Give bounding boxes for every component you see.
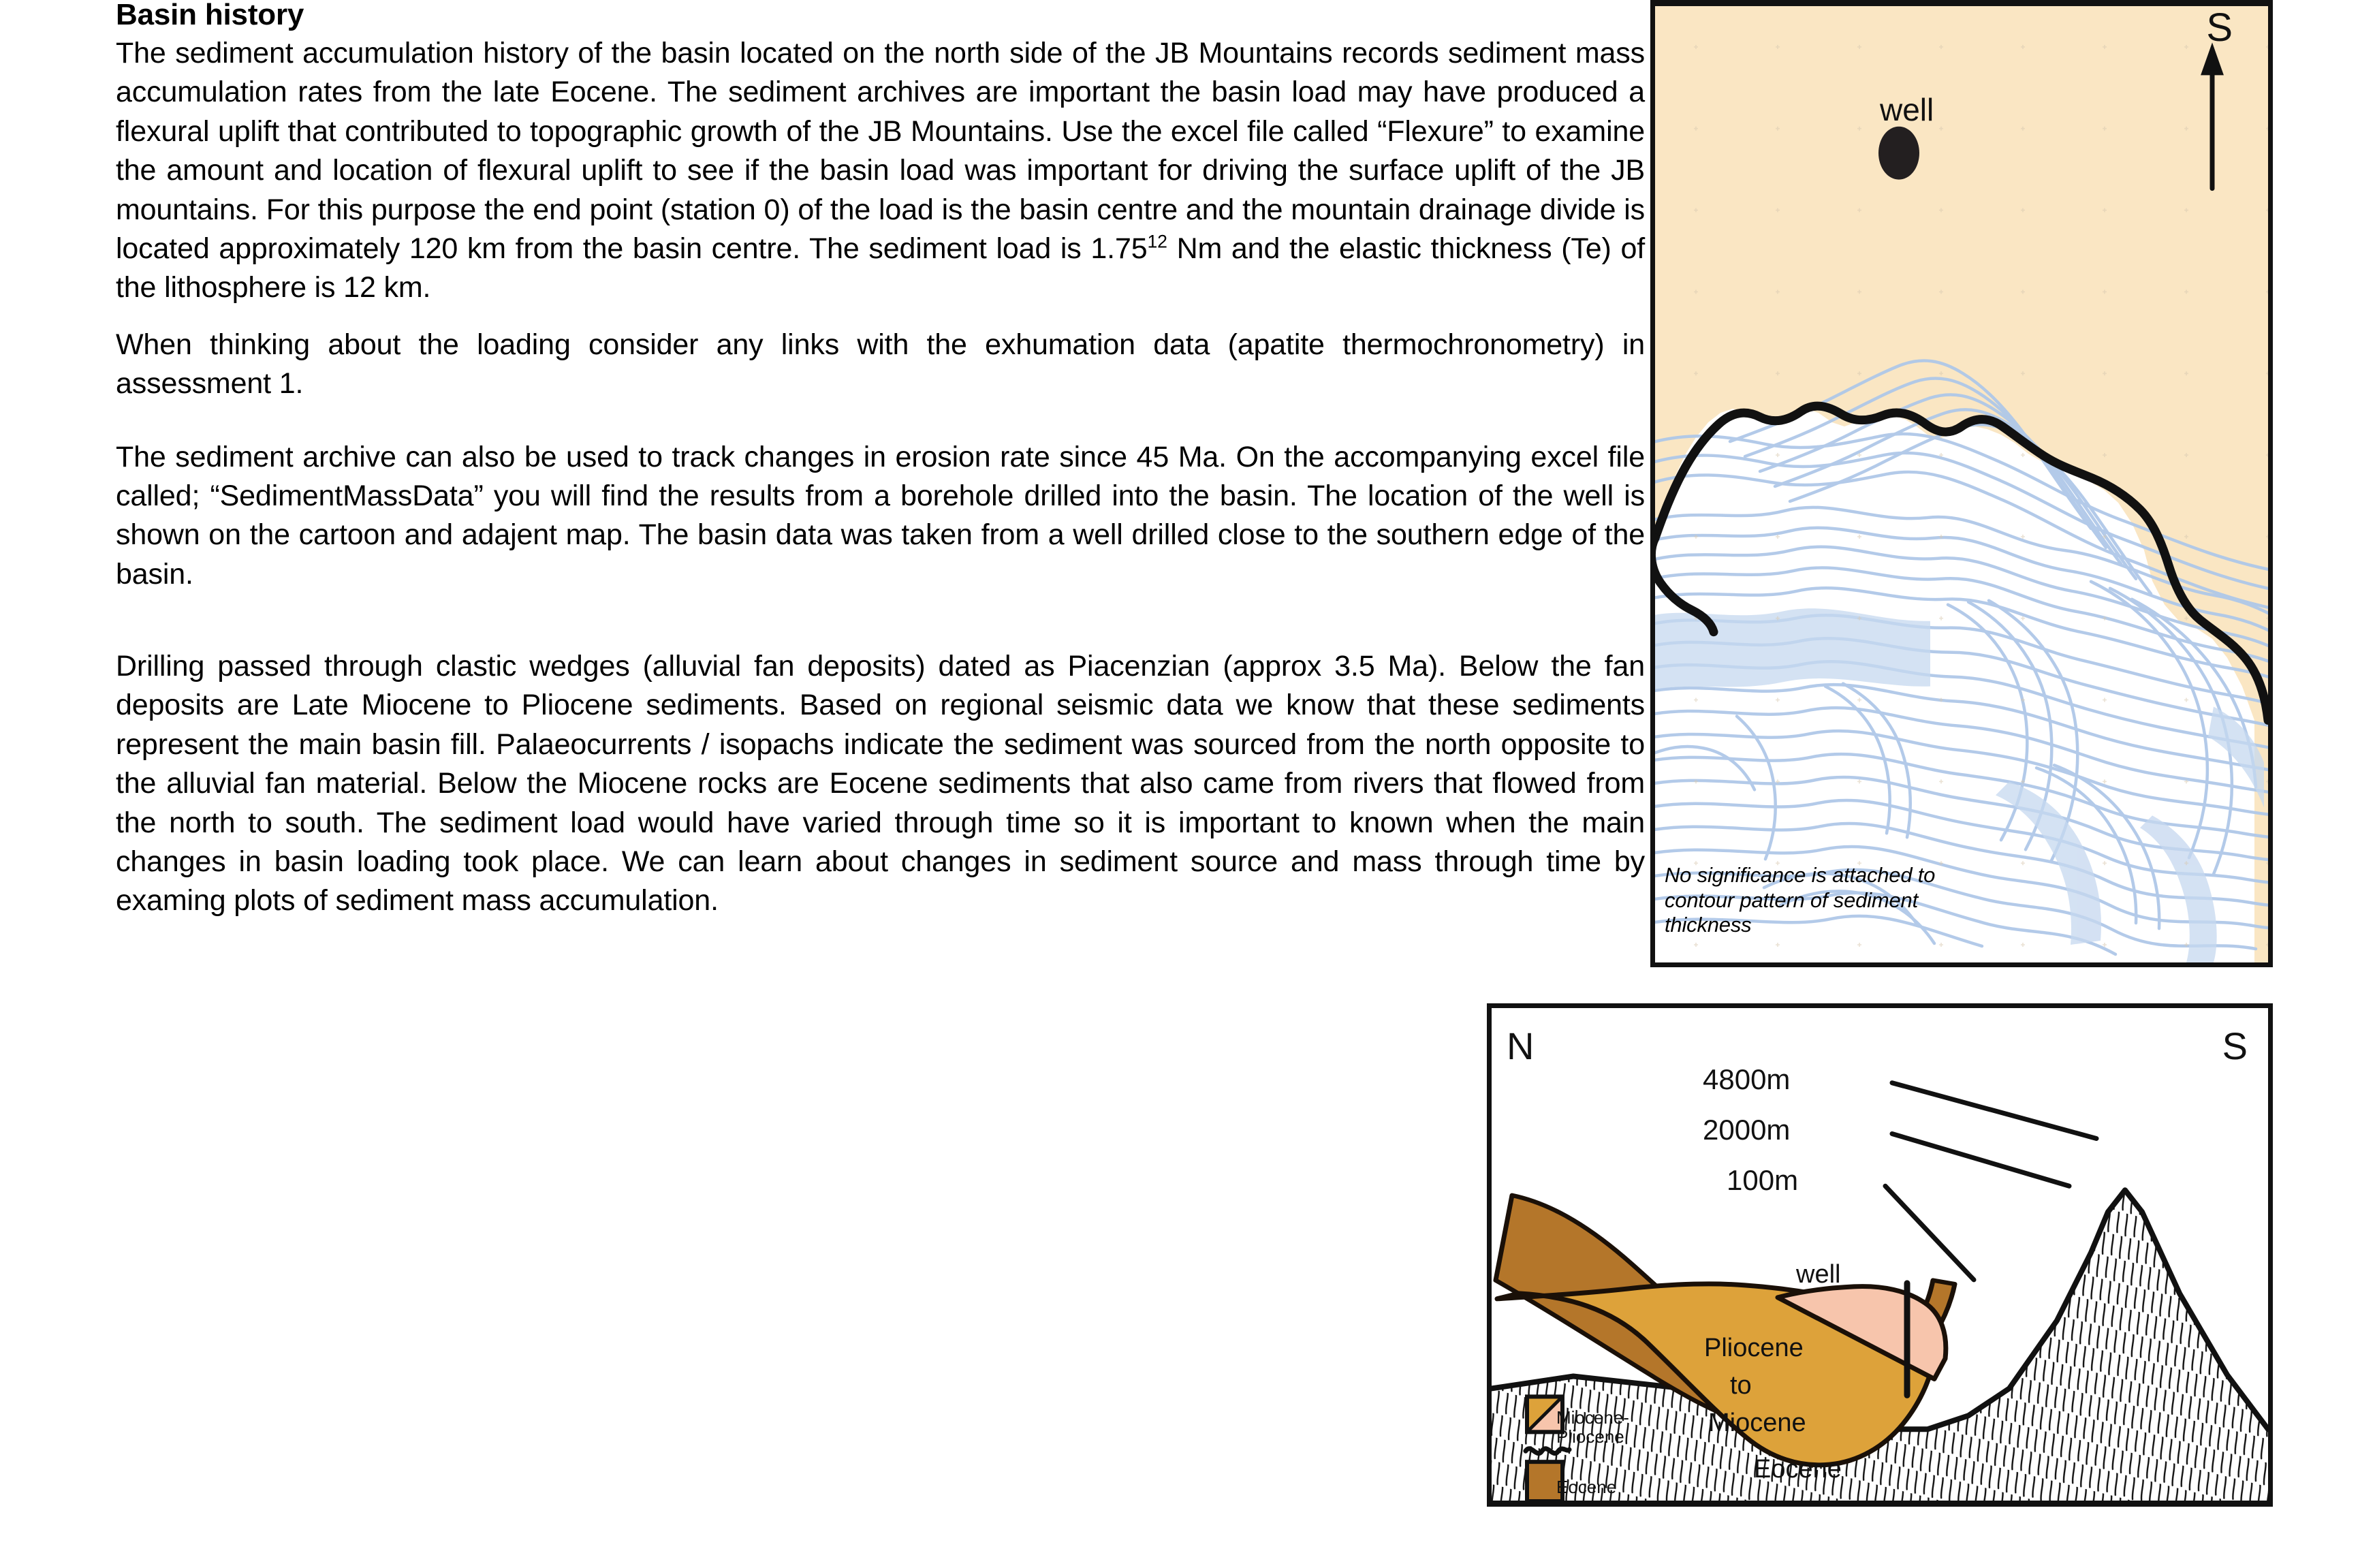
elevation-label-4800m: 4800m <box>1703 1065 1790 1094</box>
paragraph-3: The sediment archive can also be used to… <box>116 438 1645 595</box>
paragraph-1-pre: The sediment accumulation history of the… <box>116 37 1645 265</box>
page-title: Basin history <box>116 0 1645 30</box>
basin-cross-section: N S 4800m 2000m 100m well Pliocene to Mi… <box>1487 1003 2273 1507</box>
map-caption: No significance is attached to contour p… <box>1665 863 1992 938</box>
legend-label-line2: Pliocene <box>1556 1426 1624 1447</box>
unit-label-to: to <box>1730 1373 1752 1398</box>
paragraph-spacer <box>116 404 1645 438</box>
paragraph-4: Drilling passed through clastic wedges (… <box>116 647 1645 921</box>
legend-label-miocene-pliocene: Miocene-Pliocene <box>1556 1409 1629 1446</box>
unit-label-pliocene: Pliocene <box>1704 1335 1804 1361</box>
legend-label-line1: Miocene- <box>1556 1407 1629 1428</box>
legend-label-eocene: Eocene <box>1556 1478 1616 1497</box>
map-south-label: S <box>2206 5 2233 50</box>
map-graphic <box>1655 6 2268 962</box>
elevation-label-2000m: 2000m <box>1703 1116 1790 1144</box>
unit-label-miocene: Miocene <box>1708 1410 1806 1436</box>
xsec-north-label: N <box>1507 1027 1534 1065</box>
paragraph-1: The sediment accumulation history of the… <box>116 34 1645 308</box>
elevation-label-100m: 100m <box>1727 1166 1798 1195</box>
xsec-south-label: S <box>2222 1027 2248 1065</box>
xsec-well-label: well <box>1796 1261 1840 1287</box>
sediment-load-exponent: 12 <box>1147 232 1167 252</box>
paragraph-2: When thinking about the loading consider… <box>116 326 1645 404</box>
well-marker <box>1878 127 1919 180</box>
document-text-column: Basin history The sediment accumulation … <box>116 0 1645 921</box>
unit-label-eocene: Eocene <box>1754 1456 1842 1482</box>
map-well-label: well <box>1880 91 1934 128</box>
paragraph-spacer <box>116 594 1645 647</box>
paragraph-spacer <box>116 308 1645 326</box>
sediment-thickness-map: S well No significance is attached to co… <box>1650 0 2273 967</box>
